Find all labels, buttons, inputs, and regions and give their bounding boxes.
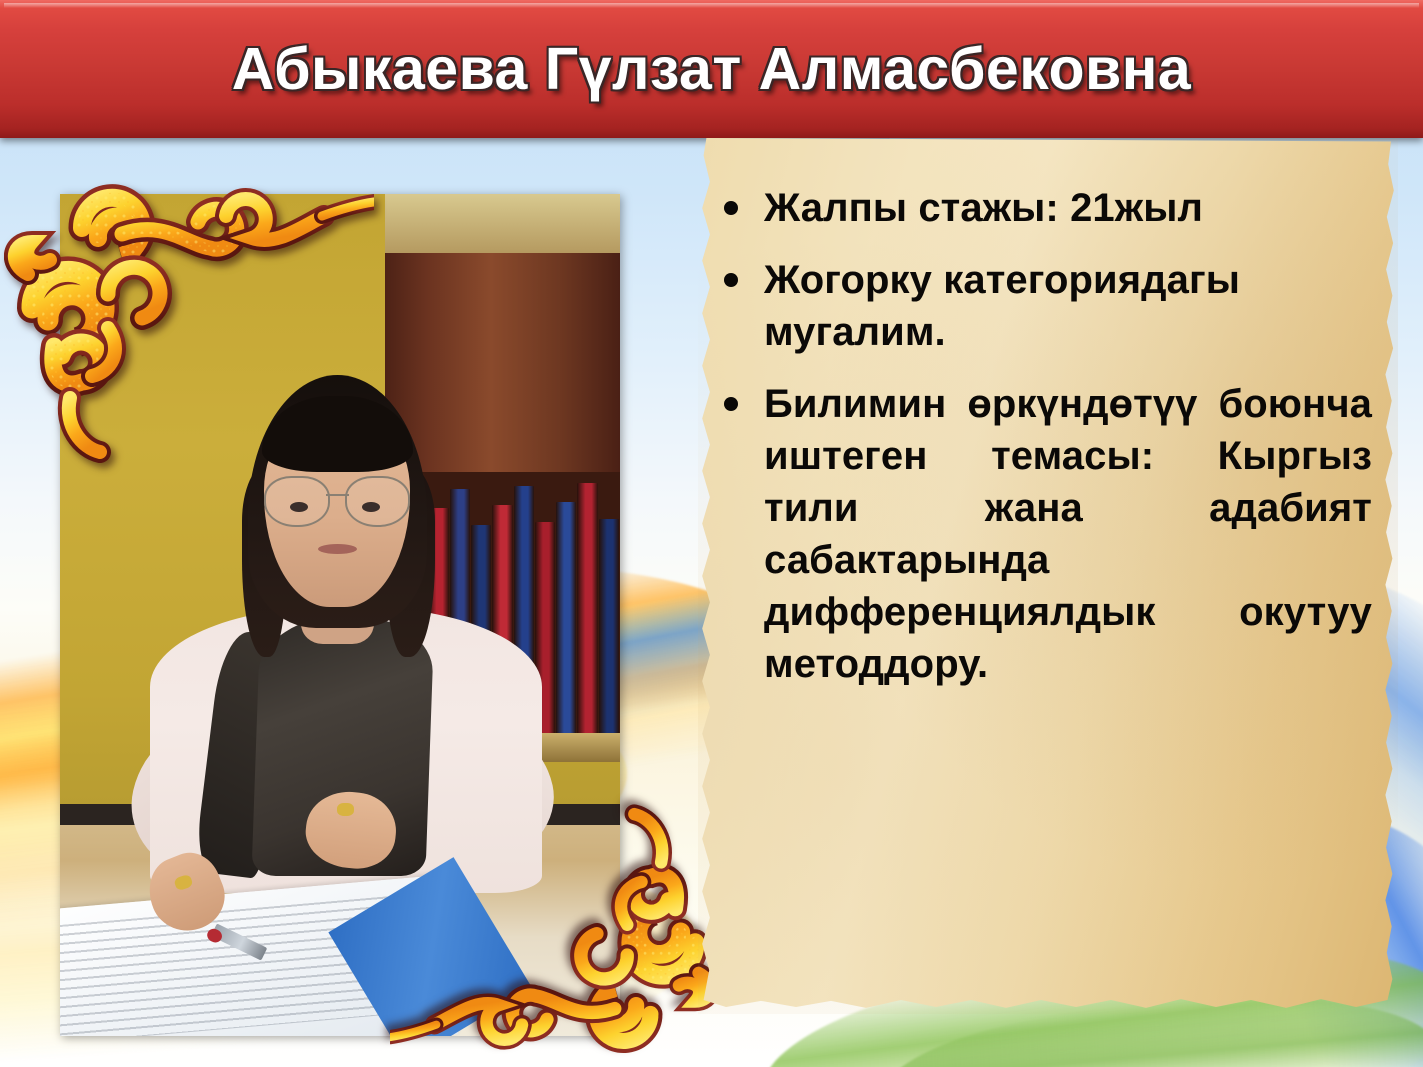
photo-book xyxy=(577,483,597,750)
bullet-text: Билимин өркүндөтүү боюнча иштеген темасы… xyxy=(764,378,1372,690)
photo-book xyxy=(556,502,576,749)
glasses-lens-left xyxy=(264,476,329,527)
bullet-dot-icon xyxy=(724,273,738,287)
photo-glasses xyxy=(264,476,410,523)
photo-book xyxy=(599,519,619,750)
photo-bookcase-top xyxy=(385,194,620,253)
title-banner: Абыкаева Гүлзат Алмасбековна xyxy=(0,0,1423,138)
photo-ring-right xyxy=(337,803,354,816)
bullet-text: Жогорку категориядагы мугалим. xyxy=(764,254,1372,358)
glasses-lens-right xyxy=(345,476,410,527)
list-item: Билимин өркүндөтүү боюнча иштеген темасы… xyxy=(718,378,1372,690)
teacher-photo xyxy=(60,194,620,1036)
glasses-bridge xyxy=(326,494,349,496)
bullet-text: Жалпы стажы: 21жыл xyxy=(764,182,1372,234)
presentation-slide: Абыкаева Гүлзат Алмасбековна xyxy=(0,0,1423,1067)
parchment-panel: Жалпы стажы: 21жыл Жогорку категориядагы… xyxy=(698,138,1398,1014)
bullet-dot-icon xyxy=(724,397,738,411)
bullet-dot-icon xyxy=(724,201,738,215)
list-item: Жогорку категориядагы мугалим. xyxy=(718,254,1372,358)
list-item: Жалпы стажы: 21жыл xyxy=(718,182,1372,234)
page-title: Абыкаева Гүлзат Алмасбековна xyxy=(232,35,1191,103)
bullet-list: Жалпы стажы: 21жыл Жогорку категориядагы… xyxy=(718,182,1372,710)
